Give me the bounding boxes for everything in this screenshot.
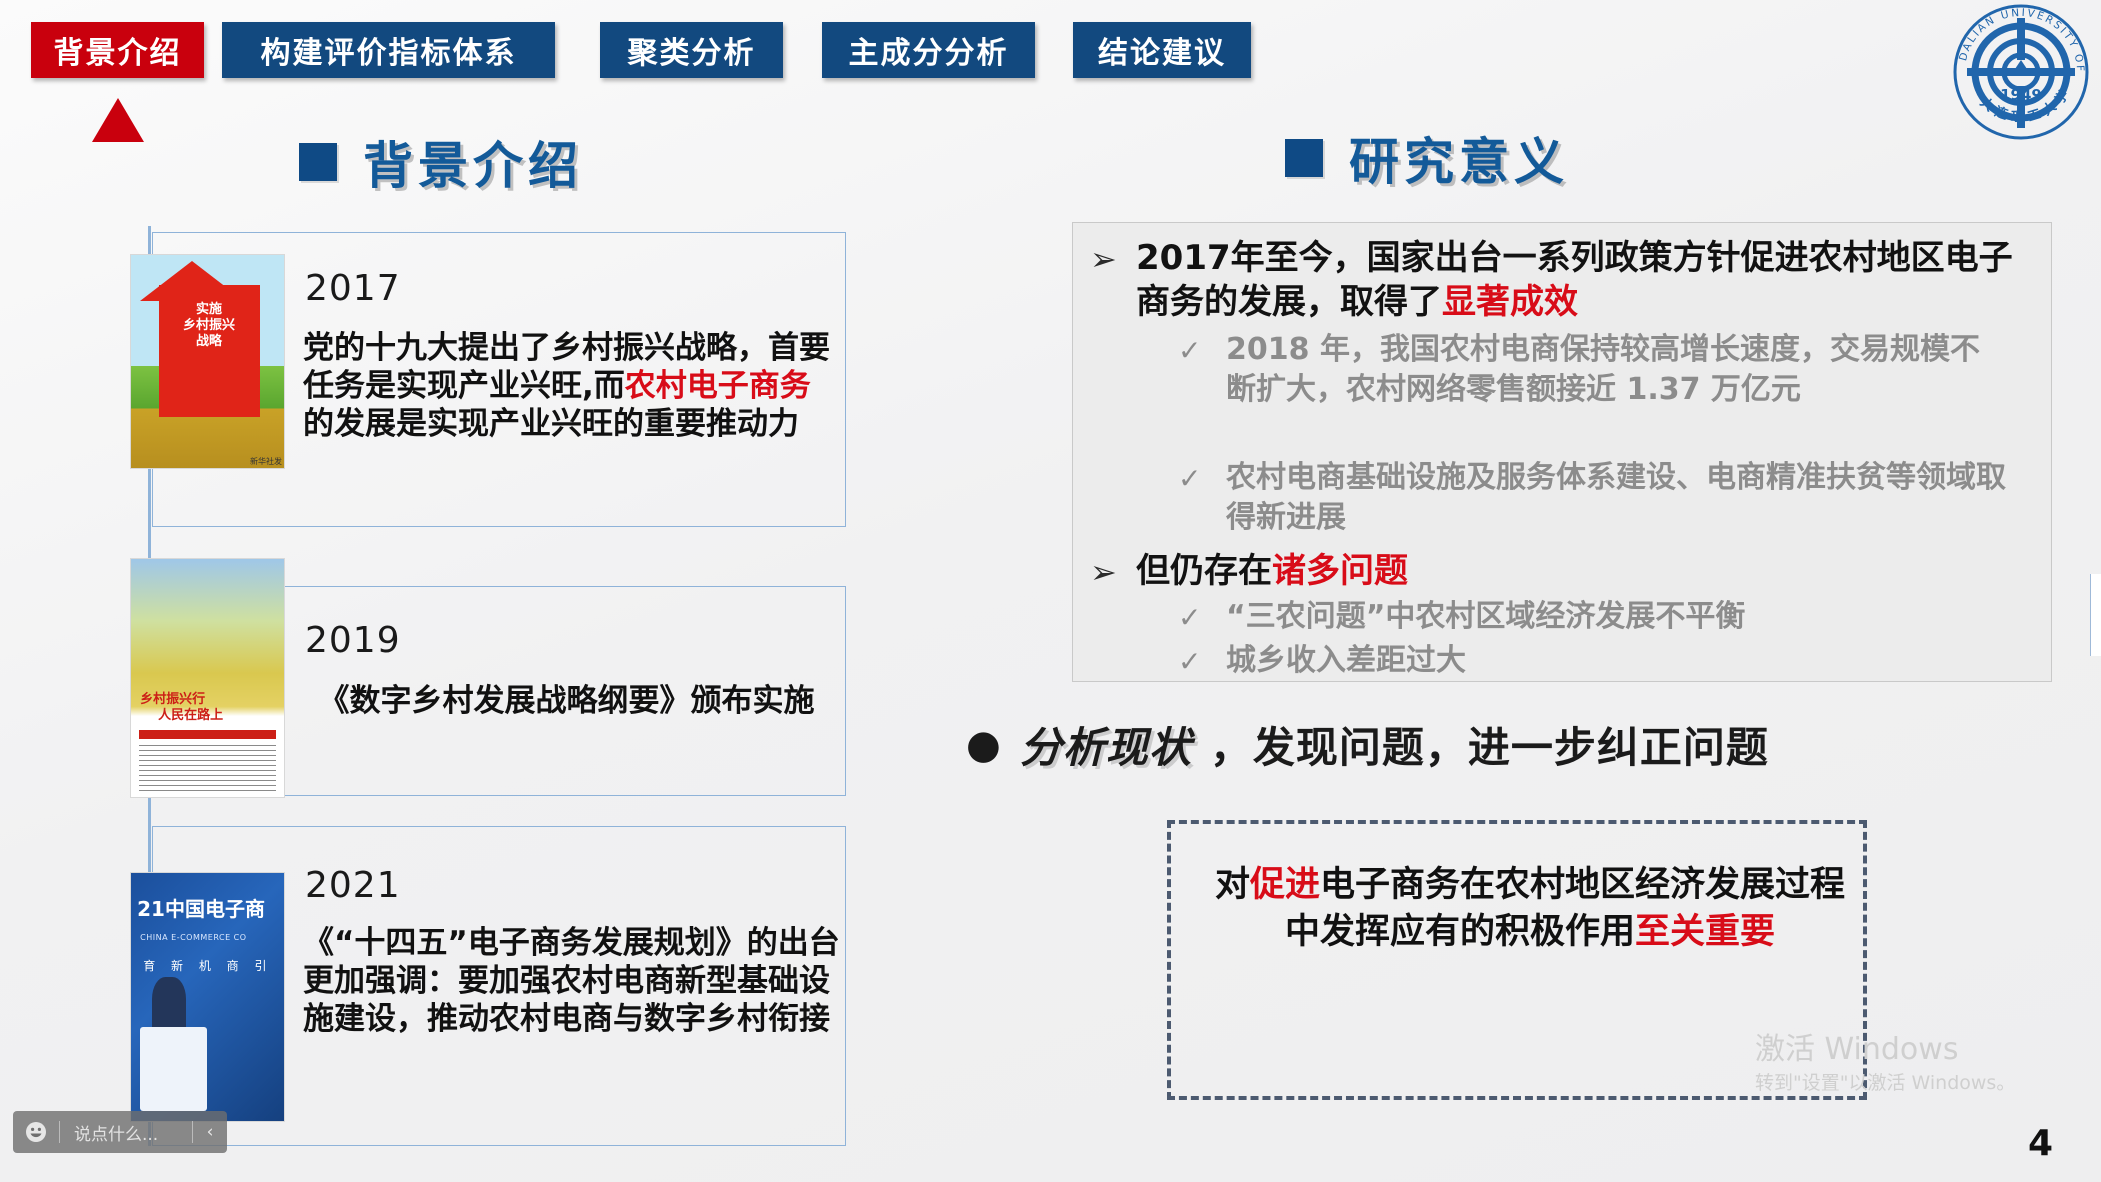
- left-section-heading: 背景介绍: [299, 126, 583, 198]
- slide-canvas: 背景介绍 构建评价指标体系 聚类分析 主成分分析 结论建议 1949 DALIA…: [0, 0, 2101, 1182]
- mid-statement-line: ● 分析现状 ，发现问题，进一步纠正问题: [966, 714, 2046, 775]
- thumb-2021-speaker: [152, 977, 186, 1032]
- year-label-2019: 2019: [305, 620, 401, 661]
- nav-tab-4[interactable]: 结论建议: [1073, 22, 1251, 78]
- smile-icon[interactable]: [13, 1121, 59, 1143]
- year-label-2021: 2021: [305, 865, 401, 906]
- nav-tabs: 背景介绍 构建评价指标体系 聚类分析 主成分分析 结论建议: [0, 22, 2101, 78]
- bullet-text-1: 2017年至今，国家出台一系列政策方针促进农村地区电子商务的发展，取得了显著成效: [1136, 236, 2026, 324]
- university-logo: 1949 DALIAN UNIVERSITY OF TECHNOLOGY 大连理…: [1951, 2, 2091, 142]
- thumbnail-2019: 乡村振兴行人民在路上: [130, 558, 285, 798]
- sub-bullet-text-3: “三农问题”中农村区域经济发展不平衡: [1226, 597, 2016, 637]
- nav-tab-0[interactable]: 背景介绍: [31, 22, 204, 78]
- thumbnail-2017: 实施乡村振兴战略 新华社发: [130, 254, 285, 469]
- conclusion-text: 对促进电子商务在农村地区经济发展过程中发挥应有的积极作用至关重要: [1210, 862, 1850, 956]
- right-heading-text: 研究意义: [1349, 122, 1569, 194]
- sub-bullet-text-4: 城乡收入差距过大: [1226, 641, 2016, 681]
- card-text-2021: 《“十四五”电子商务发展规划》的出台更加强调：要加强农村电商新型基础设施建设，推…: [303, 925, 843, 1038]
- thumb-2019-body-lines: [139, 745, 277, 793]
- arrow-bullet-icon-2: ➢: [1090, 553, 1117, 591]
- arrow-bullet-icon-1: ➢: [1090, 240, 1117, 278]
- active-tab-arrow-icon: [92, 98, 144, 142]
- year-label-2017: 2017: [305, 268, 401, 309]
- thumb-2017-title: 实施乡村振兴战略: [183, 302, 235, 351]
- mid-statement-rest: ，发现问题，进一步纠正问题: [1210, 714, 1769, 775]
- right-section-heading: 研究意义: [1285, 122, 1569, 194]
- bullet-text-2: 但仍存在诸多问题: [1136, 549, 2026, 593]
- thumb-2019-title: 乡村振兴行人民在路上: [140, 692, 223, 723]
- card-text-2017: 党的十九大提出了乡村振兴战略，首要任务是实现产业兴旺,而农村电子商务的发展是实现…: [303, 330, 833, 443]
- check-bullet-icon-3: ✓: [1178, 601, 1201, 634]
- thumb-2021-title: 21中国电子商: [137, 893, 265, 922]
- square-bullet-icon-right: [1285, 139, 1323, 177]
- check-bullet-icon-2: ✓: [1178, 462, 1201, 495]
- thumb-2021-en: CHINA E-COMMERCE CO: [140, 933, 246, 942]
- round-bullet-icon: ●: [966, 725, 1002, 765]
- highlight-red: 至关重要: [1635, 912, 1775, 952]
- thumb-2019-bar: [139, 730, 277, 739]
- nav-tab-1[interactable]: 构建评价指标体系: [222, 22, 555, 78]
- comment-input[interactable]: 说点什么...: [60, 1120, 192, 1145]
- left-heading-text: 背景介绍: [363, 126, 583, 198]
- comment-bar[interactable]: 说点什么... ‹: [13, 1111, 227, 1153]
- thumb-2021-podium: [140, 1027, 207, 1111]
- thumbnail-2021: 21中国电子商 CHINA E-COMMERCE CO 育 新 机 商 引: [130, 872, 285, 1122]
- sub-bullet-text-1: 2018 年，我国农村电商保持较高增长速度，交易规模不断扩大，农村网络零售额接近…: [1226, 330, 2006, 409]
- page-number: 4: [2028, 1123, 2053, 1164]
- check-bullet-icon-4: ✓: [1178, 645, 1201, 678]
- svg-text:1949: 1949: [2000, 86, 2042, 104]
- mid-statement-emphasis: 分析现状: [1020, 714, 1192, 775]
- thumb-2017-caption: 新华社发: [250, 456, 282, 467]
- card-text-2019: 《数字乡村发展战略纲要》颁布实施: [303, 683, 833, 721]
- highlight-red: 促进: [1250, 865, 1320, 905]
- highlight-red: 农村电子商务: [625, 368, 811, 404]
- right-edge-artifact: [2090, 574, 2101, 656]
- thumb-2021-sub: 育 新 机 商 引: [143, 957, 272, 974]
- highlight-red: 诸多问题: [1272, 551, 1408, 591]
- check-bullet-icon-1: ✓: [1178, 334, 1201, 367]
- square-bullet-icon: [299, 143, 337, 181]
- chevron-left-icon[interactable]: ‹: [193, 1122, 227, 1142]
- nav-tab-2[interactable]: 聚类分析: [600, 22, 783, 78]
- nav-tab-3[interactable]: 主成分分析: [822, 22, 1035, 78]
- sub-bullet-text-2: 农村电商基础设施及服务体系建设、电商精准扶贫等领域取得新进展: [1226, 458, 2016, 537]
- highlight-red: 显著成效: [1442, 282, 1578, 322]
